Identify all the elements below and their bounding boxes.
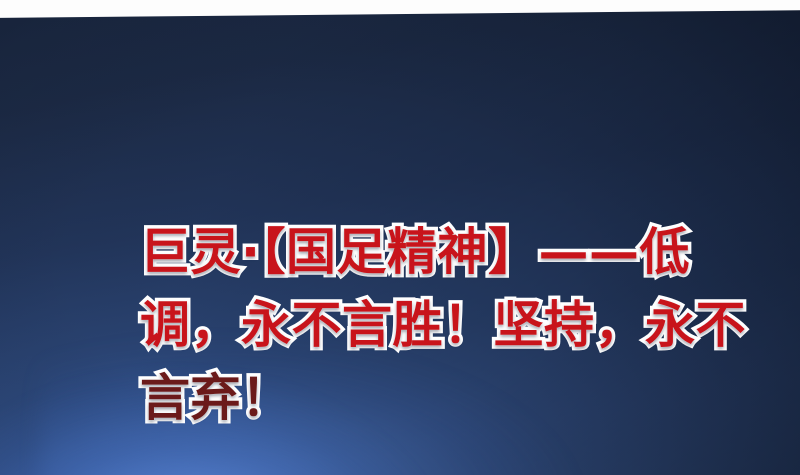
caption-line-1: 巨灵·【国足精神】——低 [140, 216, 740, 289]
caption-text-block: 巨灵·【国足精神】——低 调，永不言胜！坚持，永不 言弃！ [140, 216, 740, 435]
webtoon-panel: 巨灵·【国足精神】——低 调，永不言胜！坚持，永不 言弃！ [0, 0, 800, 475]
caption-line-3: 言弃！ [140, 362, 740, 435]
caption-line-2: 调，永不言胜！坚持，永不 [140, 289, 740, 362]
